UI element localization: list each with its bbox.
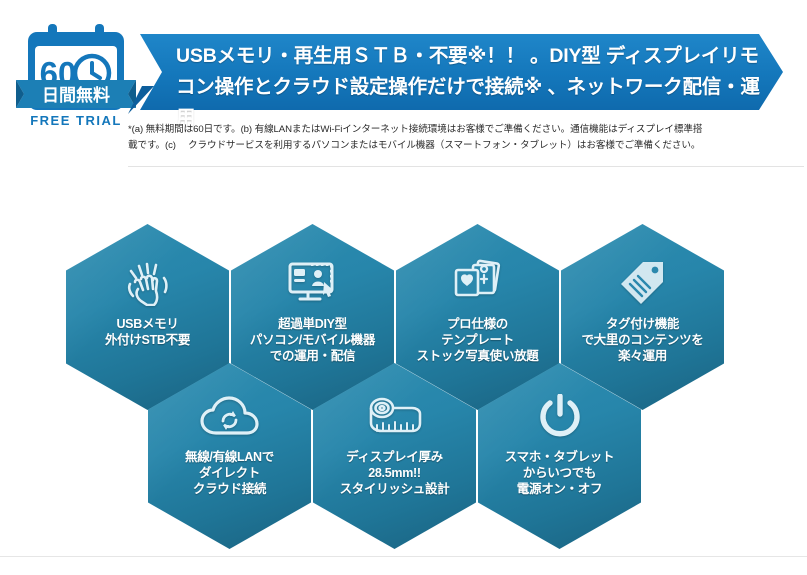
measuring-tape-icon bbox=[366, 393, 424, 441]
badge-subtitle: FREE TRIAL bbox=[30, 113, 122, 128]
monitor-user-icon bbox=[284, 258, 342, 306]
feature-caption: ディスプレイ厚み 28.5mm!! スタイリッシュ設計 bbox=[317, 449, 473, 497]
footer-divider bbox=[0, 556, 807, 557]
feature-caption: USBメモリ 外付けSTB不要 bbox=[70, 316, 226, 348]
cloud-sync-icon bbox=[199, 393, 261, 441]
feature-caption: 超過単DIY型 パソコン/モバイル機器 での運用・配信 bbox=[235, 316, 391, 364]
waving-hands-icon bbox=[122, 258, 174, 306]
feature-caption: 無線/有線LANで ダイレクト クラウド接続 bbox=[152, 449, 308, 497]
headline-text: USBメモリ・再生用ＳＴＢ・不要※！！ 。DIY型 ディスプレイリモ コン操作と… bbox=[176, 41, 776, 134]
feature-caption: タグ付け機能 で大里のコンテンツを 楽々運用 bbox=[565, 316, 721, 364]
badge-ribbon-label: 日間無料 bbox=[42, 85, 110, 105]
page-header: 60 日間無料 FREE TRIAL USBメモリ・再生用ＳＴＢ・不要※！！ 。 bbox=[0, 0, 807, 170]
feature-caption: スマホ・タブレット からいつでも 電源オン・オフ bbox=[482, 449, 638, 497]
disclaimer-text: *(a) 無料期間は60日です。(b) 有線LANまたはWi-Fiインターネット… bbox=[128, 122, 800, 154]
price-tag-icon bbox=[617, 258, 669, 306]
feature-hex-grid: USBメモリ 外付けSTB不要 超過単DIY型 パソコン/モバイル機器 での運 bbox=[0, 196, 807, 556]
badge-graphic: 60 日間無料 FREE TRIAL bbox=[12, 22, 140, 132]
promo-page: 60 日間無料 FREE TRIAL USBメモリ・再生用ＳＴＢ・不要※！！ 。 bbox=[0, 0, 807, 575]
headline-ribbon: USBメモリ・再生用ＳＴＢ・不要※！！ 。DIY型 ディスプレイリモ コン操作と… bbox=[140, 34, 805, 110]
free-trial-badge: 60 日間無料 FREE TRIAL bbox=[12, 22, 140, 132]
header-divider bbox=[128, 166, 804, 167]
photo-cards-heart-icon bbox=[450, 258, 506, 306]
power-button-icon bbox=[537, 393, 583, 441]
feature-caption: プロ仕様の テンプレート ストック写真使い放題 bbox=[400, 316, 556, 364]
